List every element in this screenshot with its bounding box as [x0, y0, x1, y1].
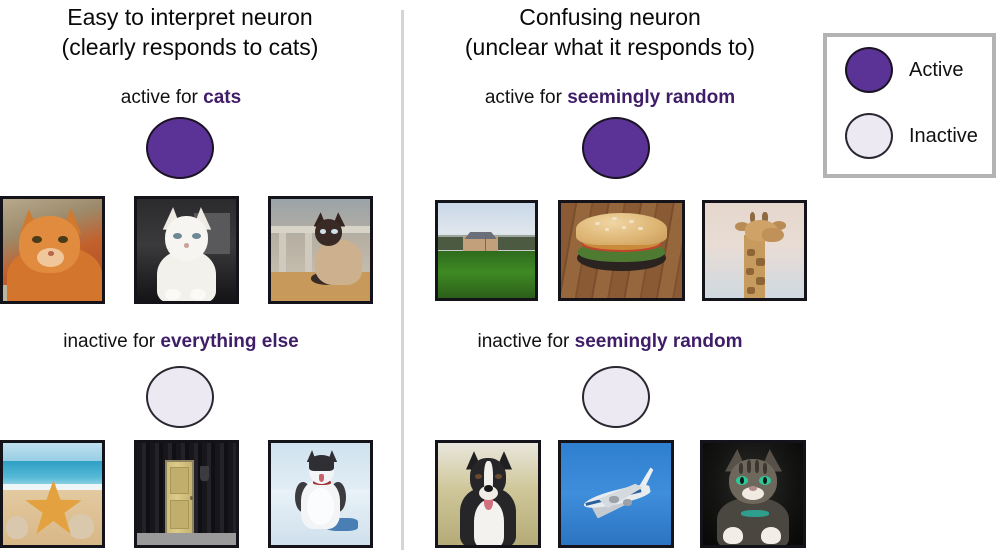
legend-inactive-dot-icon — [845, 113, 893, 159]
thumbnail-orange-tabby-cat — [0, 196, 105, 304]
caption-right-inactive-prefix: inactive for — [477, 331, 574, 352]
caption-right-inactive-emphasis: seemingly random — [575, 331, 743, 352]
thumbnail-husky-snow — [268, 440, 373, 548]
legend-inactive-label: Inactive — [909, 125, 978, 148]
legend-active-dot-icon — [845, 47, 893, 93]
caption-left-inactive: inactive for everything else — [0, 330, 362, 354]
caption-right-active-emphasis: seemingly random — [567, 87, 735, 108]
neuron-indicator-right-active — [582, 117, 650, 179]
left-panel-title-line1: Easy to interpret neuron — [67, 4, 312, 30]
thumbnail-white-cat — [134, 196, 239, 304]
neuron-indicator-left-active — [146, 117, 214, 179]
page-title-right-panel: Confusing neuron (unclear what it respon… — [410, 2, 810, 62]
caption-right-active: active for seemingly random — [410, 86, 810, 110]
thumbnail-sandwich-burger — [558, 200, 685, 301]
right-panel-title-line2: (unclear what it responds to) — [410, 32, 810, 62]
legend-box: Active Inactive — [823, 33, 996, 178]
neuron-indicator-left-inactive — [146, 366, 214, 428]
left-panel-title-line2: (clearly responds to cats) — [0, 32, 380, 62]
legend-active-label: Active — [909, 59, 963, 82]
thumbnail-house-lawn — [435, 200, 538, 301]
thumbnail-starfish-beach — [0, 440, 105, 548]
caption-left-inactive-prefix: inactive for — [63, 331, 160, 352]
caption-left-active-prefix: active for — [121, 87, 203, 108]
thumbnail-border-collie — [435, 440, 541, 548]
page-title-left-panel: Easy to interpret neuron (clearly respon… — [0, 2, 380, 62]
caption-left-active-emphasis: cats — [203, 87, 241, 108]
neuron-indicator-right-inactive — [582, 366, 650, 428]
thumbnail-siamese-cat — [268, 196, 373, 304]
panel-divider — [401, 10, 404, 550]
legend-item-inactive: Inactive — [845, 113, 978, 159]
caption-left-active: active for cats — [0, 86, 362, 110]
thumbnail-giraffe — [702, 200, 807, 301]
diagram-canvas: Easy to interpret neuron (clearly respon… — [0, 0, 1000, 556]
caption-right-inactive: inactive for seemingly random — [410, 330, 810, 354]
thumbnail-yellow-door — [134, 440, 239, 548]
caption-left-inactive-emphasis: everything else — [160, 331, 298, 352]
legend-item-active: Active — [845, 47, 963, 93]
right-panel-title-line1: Confusing neuron — [519, 4, 701, 30]
thumbnail-tabby-cat-dark — [700, 440, 806, 548]
thumbnail-airplane — [558, 440, 674, 548]
caption-right-active-prefix: active for — [485, 87, 567, 108]
